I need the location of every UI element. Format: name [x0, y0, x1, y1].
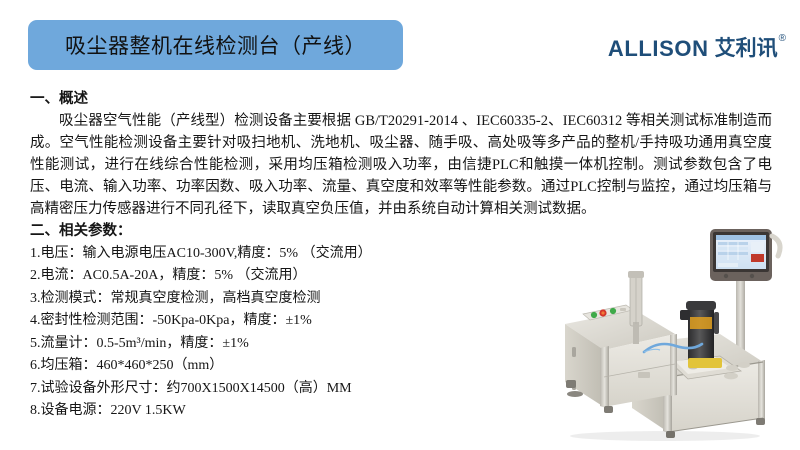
indicator-light-green[interactable]: [610, 308, 616, 314]
parameters-list: 1.电压：输入电源电压AC10-300V,精度：5% （交流用） 2.电流：AC…: [30, 243, 550, 423]
sensor-port: [726, 365, 738, 371]
overview-heading: 一、概述: [30, 88, 772, 110]
page-title-banner: 吸尘器整机在线检测台（产线）: [28, 20, 403, 70]
brand-decal: [638, 372, 650, 378]
brand-logo-chinese: 艾利讯: [715, 36, 778, 62]
hmi-touch-panel[interactable]: [710, 229, 780, 281]
selector-switch[interactable]: [620, 308, 626, 311]
page-title: 吸尘器整机在线检测台（产线）: [65, 30, 366, 60]
fixture-label: [690, 317, 712, 329]
list-item: 8.设备电源：220V 1.5KW: [30, 400, 550, 423]
list-item: 4.密封性检测范围：-50Kpa-0Kpa，精度：±1%: [30, 310, 550, 333]
list-item: 6.均压箱：460*460*250（mm）: [30, 355, 550, 378]
hmi-alarm-block: [751, 254, 764, 262]
fixture-base: [688, 358, 722, 368]
brand-logo: ALLISON 艾利讯 ®: [608, 36, 786, 66]
caster: [567, 391, 583, 397]
list-item: 3.检测模式：常规真空度检测，高档真空度检测: [30, 288, 550, 311]
ground-shadow: [570, 431, 760, 441]
test-bench-illustration: [520, 222, 800, 446]
list-item: 7.试验设备外形尺寸：约700X1500X14500（高）MM: [30, 378, 550, 401]
brand-logo-latin: ALLISON: [608, 36, 709, 62]
list-item: 2.电流：AC0.5A-20A，精度：5% （交流用）: [30, 265, 550, 288]
sensor-port: [738, 362, 750, 368]
list-item: 1.电压：输入电源电压AC10-300V,精度：5% （交流用）: [30, 243, 550, 266]
registered-trademark-icon: ®: [779, 34, 786, 44]
overview-paragraph: 吸尘器空气性能（产线型）检测设备主要根据 GB/T20291-2014 、IEC…: [30, 110, 772, 220]
sensor-port: [724, 373, 738, 380]
door-handle[interactable]: [572, 347, 576, 357]
machine-foot: [604, 406, 613, 413]
machine-foot: [566, 380, 576, 388]
machine-foot: [756, 418, 765, 425]
machine-photo: [520, 222, 800, 446]
list-item: 5.流量计：0.5-5m³/min，精度：±1%: [30, 333, 550, 356]
indicator-light-green[interactable]: [591, 312, 597, 318]
